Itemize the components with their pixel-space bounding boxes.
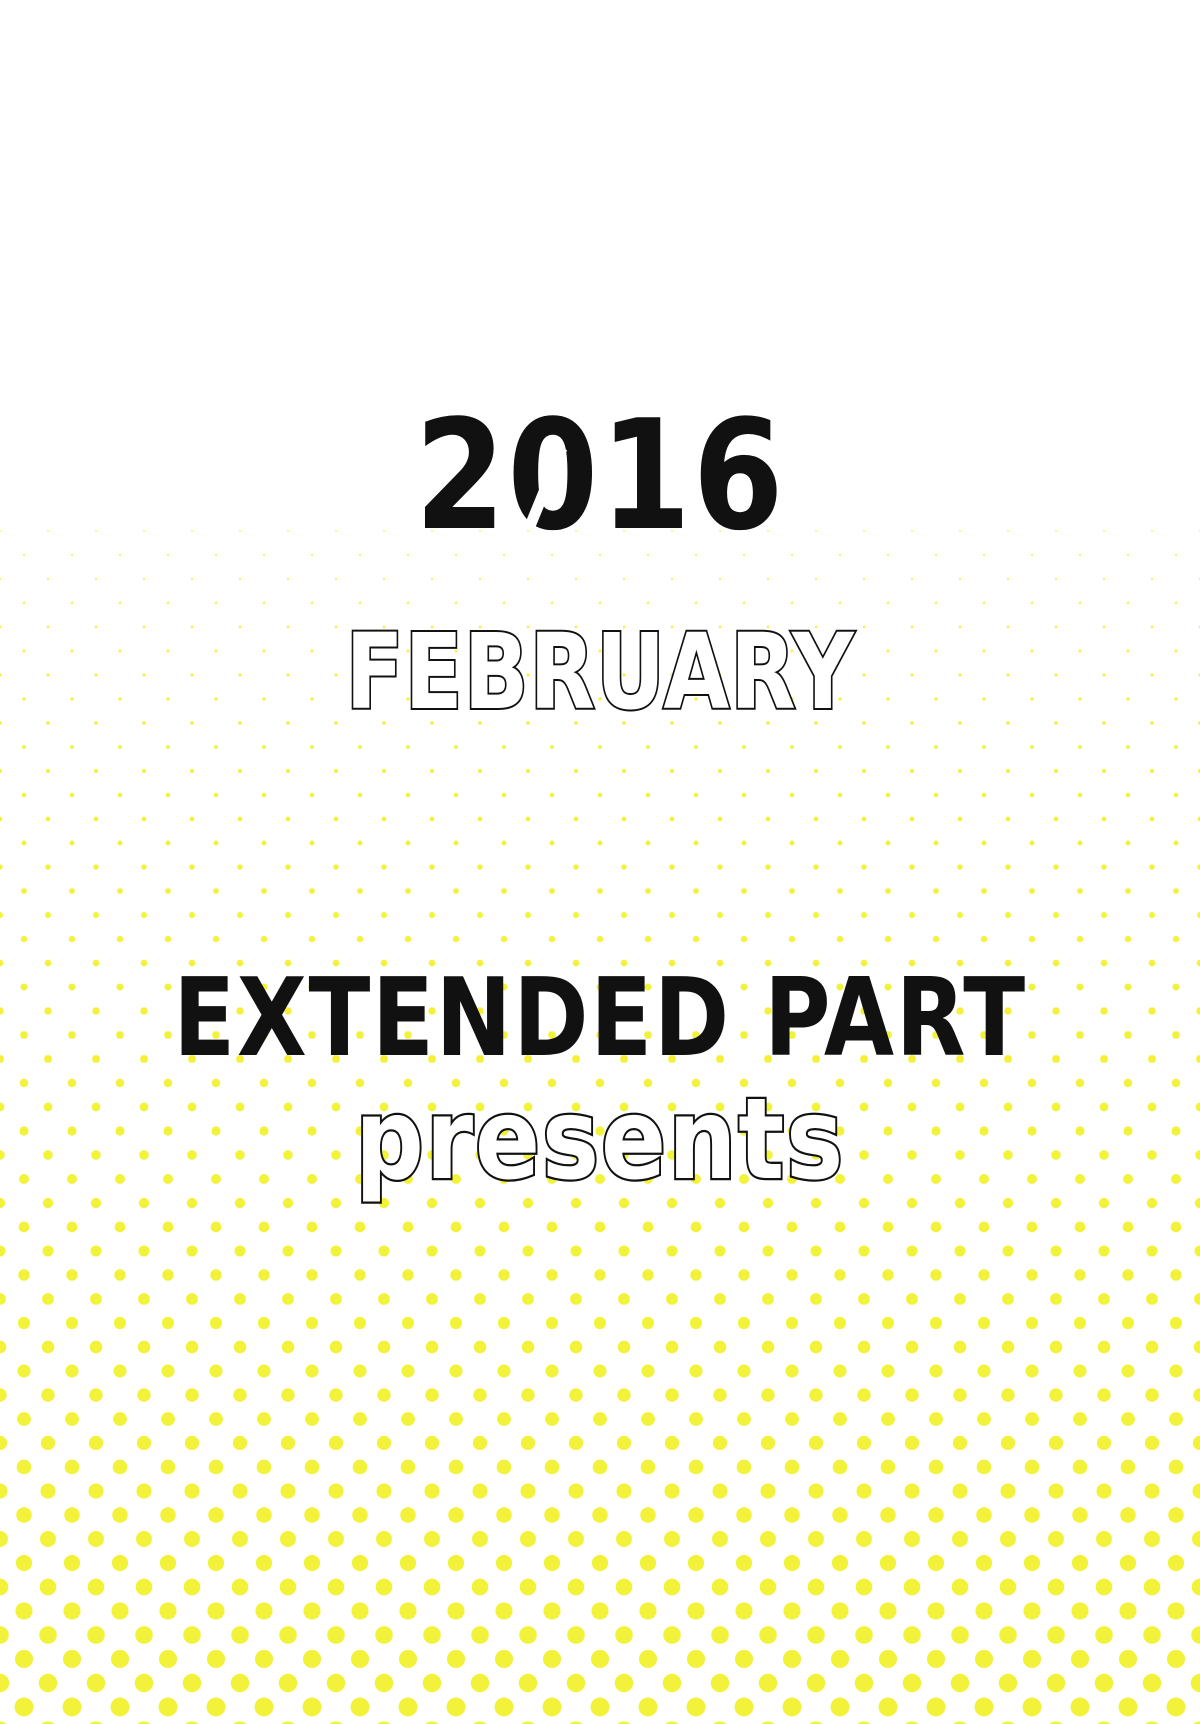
studio-text: EXTENDED PART — [173, 954, 1027, 1081]
text-layer: 2016 FEBRUARY EXTENDED PART presents — [0, 0, 1200, 1724]
presents-text: presents — [355, 1074, 845, 1205]
year-text: 2016 — [415, 408, 786, 558]
studio-line: EXTENDED PART — [0, 947, 1200, 1087]
presents-line: presents — [0, 1070, 1200, 1210]
month-line: FEBRUARY — [0, 612, 1200, 742]
poster-canvas: 2016 FEBRUARY EXTENDED PART presents — [0, 0, 1200, 1724]
month-text: FEBRUARY — [345, 613, 854, 733]
year-line: 2016 — [0, 408, 1200, 558]
